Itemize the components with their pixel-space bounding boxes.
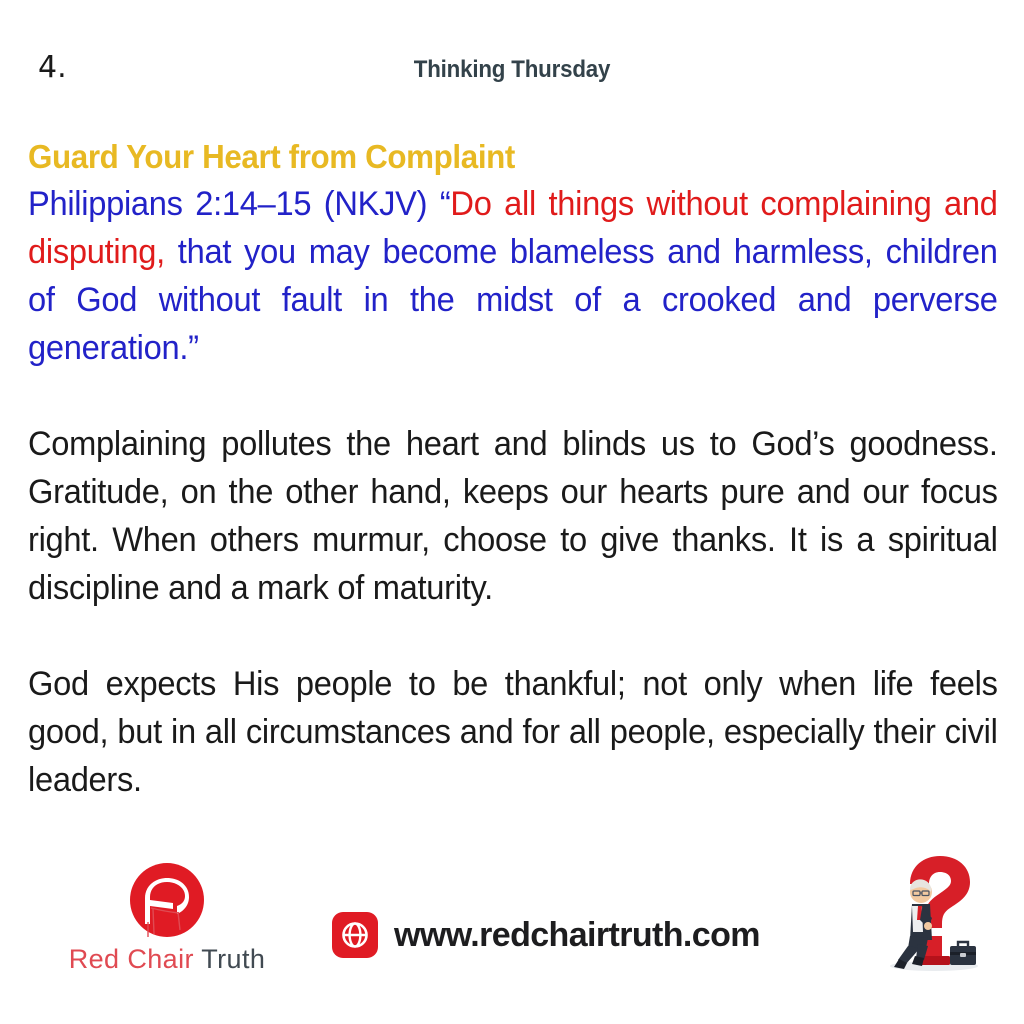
question-mark-businessman-icon [866, 848, 996, 978]
body-paragraph-two: God expects His people to be thankful; n… [28, 660, 998, 804]
red-chair-circle-icon [123, 862, 211, 944]
content-spacer-two [28, 612, 998, 660]
globe-icon [332, 912, 378, 958]
website-url-text: www.redchairtruth.com [394, 915, 760, 955]
slide-content: Guard Your Heart from Complaint Philippi… [28, 136, 998, 804]
brand-name-primary: Red Chair [69, 944, 194, 974]
slide-header: 4. Thinking Thursday [0, 50, 1024, 96]
brand-name-secondary: Truth [194, 944, 265, 974]
scripture-passage: Philippians 2:14–15 (NKJV) “Do all thing… [28, 180, 998, 372]
slide-footer: Red Chair Truth www.redchairtruth.com [0, 858, 1024, 998]
brand-wordmark: Red Chair Truth [62, 944, 272, 974]
website-link[interactable]: www.redchairtruth.com [332, 908, 760, 962]
scripture-reference: Philippians 2:14–15 (NKJV) [28, 185, 440, 223]
body-paragraph-one: Complaining pollutes the heart and blind… [28, 420, 998, 612]
content-spacer-one [28, 372, 998, 420]
scripture-body-text: that you may become blameless and harmle… [28, 233, 998, 367]
series-title: Thinking Thursday [36, 56, 988, 84]
scripture-open-quote: “ [440, 185, 451, 223]
brand-logo[interactable]: Red Chair Truth [62, 862, 272, 984]
slide-canvas: 4. Thinking Thursday Guard Your Heart fr… [0, 0, 1024, 1024]
headline: Guard Your Heart from Complaint [28, 136, 950, 178]
